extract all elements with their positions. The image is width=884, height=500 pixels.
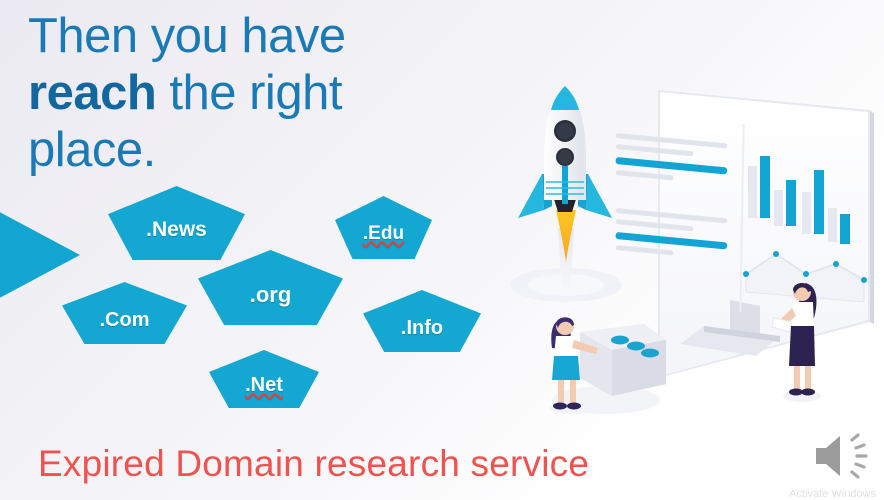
- domain-pentagon-news[interactable]: .News: [108, 186, 245, 260]
- domain-label-edu: .Edu: [363, 223, 404, 245]
- domain-label-org: .org: [250, 282, 292, 308]
- footer-title: Expired Domain research service: [38, 443, 589, 485]
- domain-label-info: .Info: [401, 317, 443, 340]
- domain-label-news: .News: [146, 218, 207, 242]
- headline-line-2-rest: the right: [156, 66, 342, 120]
- domain-pentagon-edu[interactable]: .Edu: [335, 196, 432, 259]
- rocket-analytics-illustration: [508, 78, 884, 428]
- domain-label-net: .Net: [245, 374, 283, 397]
- speaker-volume-icon[interactable]: [812, 428, 874, 484]
- headline-emphasis-word: reach: [28, 66, 156, 120]
- headline-line-1: Then you have: [28, 9, 346, 63]
- headline-line-3: place.: [28, 123, 156, 177]
- domain-pentagon-net[interactable]: .Net: [209, 350, 319, 408]
- page-title: Then you have reach the right place.: [28, 8, 498, 179]
- domain-label-com: .Com: [100, 309, 150, 332]
- domain-pentagon-info[interactable]: .Info: [363, 290, 481, 352]
- slide-canvas: Then you have reach the right place. .Ne…: [0, 0, 884, 500]
- windows-activation-watermark: Activate Windows: [789, 488, 876, 500]
- domain-pentagon-com[interactable]: .Com: [62, 282, 187, 344]
- domain-pentagon-org[interactable]: .org: [198, 250, 343, 325]
- rocket: [510, 86, 622, 302]
